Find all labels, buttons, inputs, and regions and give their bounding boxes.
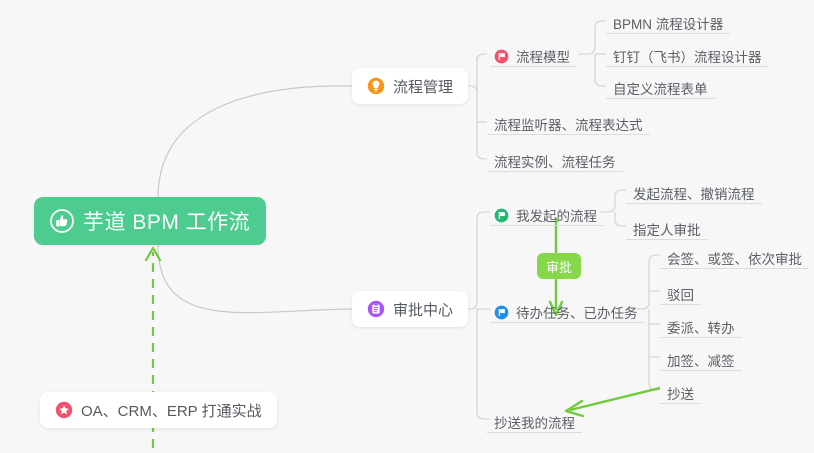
node-countersign-label: 会签、或签、依次审批 <box>667 253 802 267</box>
node-start-cancel[interactable]: 发起流程、撤销流程 <box>626 177 762 204</box>
node-delegate-transfer-label: 委派、转办 <box>667 322 735 336</box>
wire-mi-second <box>615 212 626 226</box>
arrow-cc-to-ccmy <box>570 388 660 410</box>
star-icon <box>55 401 73 419</box>
wire-process-model-bracket <box>578 21 606 54</box>
branch-approval-center[interactable]: 审批中心 <box>352 291 468 327</box>
node-cc[interactable]: 抄送 <box>660 377 701 404</box>
flag-red-icon <box>494 49 509 64</box>
node-todo-done-label: 待办任务、已办任务 <box>516 307 638 321</box>
wire-pmodel-down <box>595 54 606 86</box>
node-todo-done[interactable]: 待办任务、已办任务 <box>490 296 645 323</box>
node-process-model[interactable]: 流程模型 <box>490 40 577 67</box>
lightbulb-icon <box>367 77 385 95</box>
node-my-initiated-label: 我发起的流程 <box>516 210 597 224</box>
annotation-approval-tag-label: 审批 <box>546 257 572 276</box>
node-dingtalk-designer-label: 钉钉（飞书）流程设计器 <box>613 51 762 65</box>
thumbs-up-icon <box>50 209 74 233</box>
node-reject-label: 驳回 <box>667 289 694 303</box>
wire-root-to-process-management <box>158 86 352 198</box>
node-listener-expression[interactable]: 流程监听器、流程表达式 <box>487 108 650 135</box>
node-dingtalk-designer[interactable]: 钉钉（飞书）流程设计器 <box>606 40 769 67</box>
node-cc-my-process[interactable]: 抄送我的流程 <box>487 406 582 433</box>
node-process-model-label: 流程模型 <box>516 51 570 65</box>
node-my-initiated[interactable]: 我发起的流程 <box>490 199 604 226</box>
wire-todo-c5 <box>649 309 660 390</box>
node-cc-my-process-label: 抄送我的流程 <box>494 417 575 431</box>
node-instance-task-label: 流程实例、流程任务 <box>494 156 616 170</box>
wire-ac-ccmy <box>477 309 490 419</box>
node-listener-expression-label: 流程监听器、流程表达式 <box>494 119 643 133</box>
clipboard-purple-icon <box>367 300 385 318</box>
node-delegate-transfer[interactable]: 委派、转办 <box>660 311 742 338</box>
branch-process-management-label: 流程管理 <box>393 76 453 97</box>
flag-green-icon <box>494 208 509 223</box>
branch-process-management[interactable]: 流程管理 <box>352 68 468 104</box>
node-bpmn-designer[interactable]: BPMN 流程设计器 <box>606 7 730 34</box>
node-add-remove-sign-label: 加签、减签 <box>667 355 735 369</box>
node-cc-label: 抄送 <box>667 388 694 402</box>
annotation-approval-tag: 审批 <box>537 253 581 279</box>
branch-approval-center-label: 审批中心 <box>393 299 453 320</box>
node-custom-form-label: 自定义流程表单 <box>613 83 708 97</box>
node-instance-task[interactable]: 流程实例、流程任务 <box>487 145 623 172</box>
wire-root-to-approval-center <box>158 245 352 313</box>
bottom-note-label: OA、CRM、ERP 打通实战 <box>81 400 262 421</box>
node-add-remove-sign[interactable]: 加签、减签 <box>660 344 742 371</box>
node-custom-form[interactable]: 自定义流程表单 <box>606 72 715 99</box>
node-assignee-approval[interactable]: 指定人审批 <box>626 213 708 240</box>
node-countersign[interactable]: 会签、或签、依次审批 <box>660 242 809 269</box>
root-label: 芋道 BPM 工作流 <box>83 206 250 236</box>
wire-pm-down <box>477 86 487 159</box>
node-start-cancel-label: 发起流程、撤销流程 <box>633 188 755 202</box>
bottom-note-node[interactable]: OA、CRM、ERP 打通实战 <box>40 392 277 428</box>
node-reject[interactable]: 驳回 <box>660 278 701 305</box>
node-assignee-approval-label: 指定人审批 <box>633 224 701 238</box>
mindmap-canvas: 芋道 BPM 工作流 流程管理 流程模型 BPMN 流程设计器 钉钉（飞书）流程 <box>0 0 814 453</box>
root-node[interactable]: 芋道 BPM 工作流 <box>34 197 266 245</box>
node-bpmn-designer-label: BPMN 流程设计器 <box>613 18 723 32</box>
arrow-bottom-note-head <box>146 248 160 260</box>
wire-pm-trunk <box>477 54 487 61</box>
flag-blue-icon <box>494 305 509 320</box>
